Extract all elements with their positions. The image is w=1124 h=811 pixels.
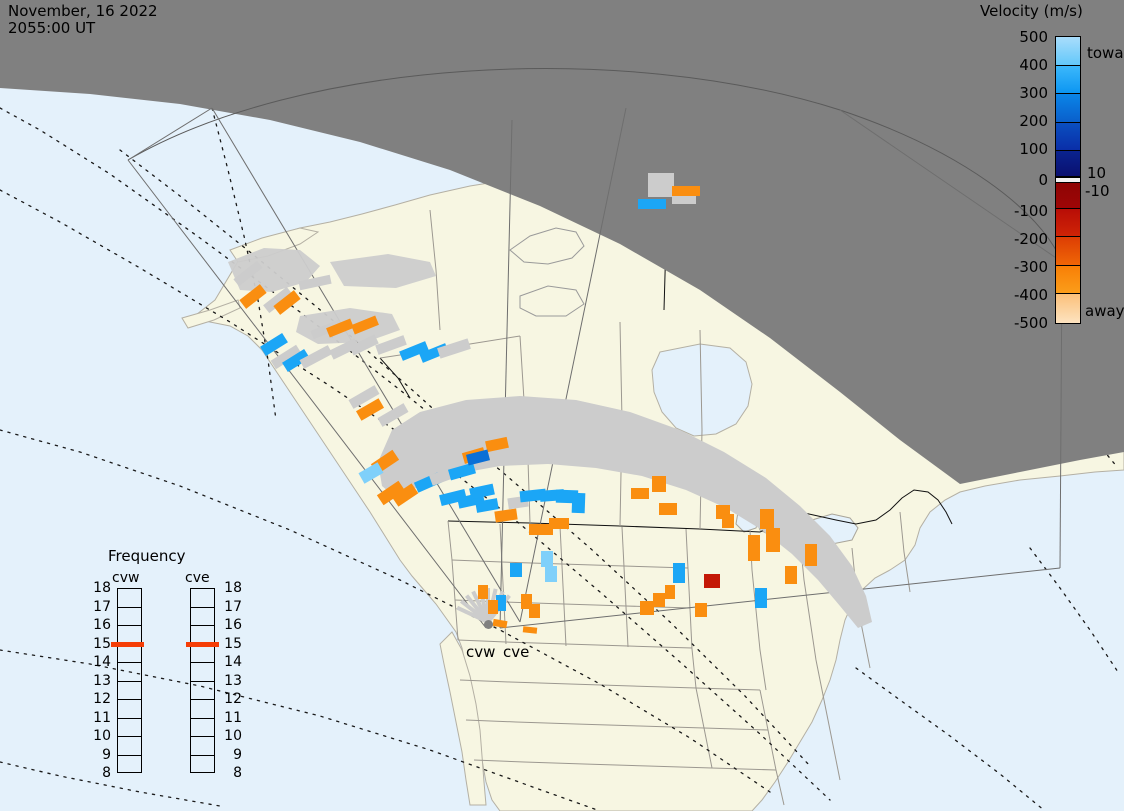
velocity-cell xyxy=(760,509,774,529)
frequency-segment xyxy=(118,589,141,608)
velocity-cell xyxy=(722,514,734,528)
frequency-segment xyxy=(191,663,214,682)
frequency-tick-cve-15: 15 xyxy=(220,636,242,652)
frequency-tick-cve-9: 9 xyxy=(220,747,242,763)
frequency-segment xyxy=(118,719,141,738)
colorbar-band-500-400 xyxy=(1056,37,1080,66)
velocity-cell xyxy=(488,600,498,614)
colorbar-title: Velocity (m/s) xyxy=(980,4,1083,19)
colorbar-band-400-300 xyxy=(1056,66,1080,95)
colorbar-tick-0: 0 xyxy=(988,171,1048,189)
velocity-cell xyxy=(704,574,720,588)
velocity-cell xyxy=(541,551,553,567)
velocity-cell xyxy=(766,528,780,552)
frequency-segment xyxy=(191,682,214,701)
frequency-tick-cvw-18: 18 xyxy=(89,580,111,596)
colorbar-inner-upper-label: 10 xyxy=(1087,164,1106,182)
velocity-cell xyxy=(805,544,817,566)
velocity-cell xyxy=(785,566,797,584)
velocity-cell xyxy=(545,566,557,582)
frequency-segment xyxy=(118,756,141,775)
velocity-cell xyxy=(695,603,707,617)
no-data-swath xyxy=(378,396,872,628)
frequency-tick-cvw-17: 17 xyxy=(89,599,111,615)
velocity-cell xyxy=(437,338,471,358)
frequency-tick-cve-14: 14 xyxy=(220,654,242,670)
frequency-segment xyxy=(191,645,214,664)
colorbar-band--300--400 xyxy=(1056,266,1080,295)
radar-site-label-cvw: cvw xyxy=(466,643,495,661)
frequency-tick-cve-13: 13 xyxy=(220,673,242,689)
velocity-cell xyxy=(652,476,666,492)
frequency-segment xyxy=(191,608,214,627)
velocity-data-cells xyxy=(0,0,1124,811)
frequency-bar-name-cvw: cvw xyxy=(112,570,139,586)
colorbar-toward-label: toward xyxy=(1087,44,1124,62)
colorbar-tick-400: 400 xyxy=(988,56,1048,74)
frequency-highlight-cvw xyxy=(111,642,144,647)
velocity-cell xyxy=(510,563,522,577)
frequency-tick-cvw-10: 10 xyxy=(89,728,111,744)
velocity-cell xyxy=(653,593,665,607)
velocity-cell xyxy=(572,493,586,513)
radar-site-marker xyxy=(484,620,493,629)
velocity-cell xyxy=(673,563,685,583)
frequency-tick-cve-18: 18 xyxy=(220,580,242,596)
colorbar-tick--200: -200 xyxy=(988,230,1048,248)
frequency-segment xyxy=(118,663,141,682)
frequency-segment xyxy=(191,737,214,756)
colorbar-band-300-200 xyxy=(1056,94,1080,123)
colorbar-tick--300: -300 xyxy=(988,258,1048,276)
frequency-bar-cvw xyxy=(117,588,142,773)
frequency-tick-cve-17: 17 xyxy=(220,599,242,615)
colorbar-tick-100: 100 xyxy=(988,140,1048,158)
frequency-tick-cvw-16: 16 xyxy=(89,617,111,633)
frequency-segment xyxy=(118,737,141,756)
observation-time: 2055:00 UT xyxy=(8,21,95,36)
frequency-segment xyxy=(191,719,214,738)
frequency-tick-cvw-14: 14 xyxy=(89,654,111,670)
colorbar-tick-200: 200 xyxy=(988,112,1048,130)
frequency-tick-cve-16: 16 xyxy=(220,617,242,633)
velocity-cell xyxy=(659,503,677,515)
frequency-tick-cve-8: 8 xyxy=(220,765,242,781)
radar-map-figure: cvwcve November, 16 2022 2055:00 UT Velo… xyxy=(0,0,1124,811)
frequency-segment xyxy=(191,700,214,719)
velocity-cell xyxy=(640,601,654,615)
colorbar-band--400--500 xyxy=(1056,294,1080,323)
frequency-tick-cvw-15: 15 xyxy=(89,636,111,652)
velocity-cell xyxy=(631,488,649,499)
colorbar-band--10--100 xyxy=(1056,183,1080,209)
velocity-cell xyxy=(755,588,767,608)
frequency-bar-name-cve: cve xyxy=(185,570,210,586)
colorbar-tick--500: -500 xyxy=(988,314,1048,332)
colorbar-band--200--300 xyxy=(1056,237,1080,266)
velocity-cell xyxy=(638,199,666,209)
colorbar-band-100-10 xyxy=(1056,151,1080,177)
frequency-highlight-cve xyxy=(186,642,219,647)
velocity-colorbar xyxy=(1055,36,1081,324)
colorbar-band--100--200 xyxy=(1056,209,1080,238)
colorbar-tick--400: -400 xyxy=(988,286,1048,304)
frequency-segment xyxy=(118,645,141,664)
colorbar-band-200-100 xyxy=(1056,123,1080,152)
frequency-segment xyxy=(191,756,214,775)
frequency-bar-cve xyxy=(190,588,215,773)
velocity-cell xyxy=(549,518,569,529)
velocity-cell xyxy=(469,484,495,500)
velocity-cell xyxy=(748,535,760,561)
colorbar-tick-300: 300 xyxy=(988,84,1048,102)
velocity-cell xyxy=(529,604,540,618)
velocity-cell xyxy=(478,585,488,599)
frequency-tick-cvw-8: 8 xyxy=(89,765,111,781)
observation-date: November, 16 2022 xyxy=(8,4,158,19)
frequency-segment xyxy=(118,608,141,627)
frequency-segment xyxy=(191,589,214,608)
velocity-cell xyxy=(494,509,517,523)
colorbar-inner-lower-label: -10 xyxy=(1085,182,1110,200)
frequency-tick-cvw-12: 12 xyxy=(89,691,111,707)
velocity-cell xyxy=(492,619,507,628)
colorbar-away-label: away xyxy=(1085,302,1124,320)
colorbar-tick-500: 500 xyxy=(988,28,1048,46)
frequency-tick-cve-11: 11 xyxy=(220,710,242,726)
velocity-cell xyxy=(672,196,696,204)
frequency-tick-cve-10: 10 xyxy=(220,728,242,744)
frequency-legend-title: Frequency xyxy=(108,549,186,564)
frequency-tick-cvw-11: 11 xyxy=(89,710,111,726)
radar-site-label-cve: cve xyxy=(503,643,529,661)
velocity-cell xyxy=(648,173,674,197)
colorbar-tick--100: -100 xyxy=(988,202,1048,220)
frequency-tick-cvw-9: 9 xyxy=(89,747,111,763)
frequency-segment xyxy=(118,682,141,701)
frequency-tick-cvw-13: 13 xyxy=(89,673,111,689)
velocity-cell xyxy=(523,626,538,633)
velocity-cell xyxy=(665,585,675,599)
frequency-tick-cve-12: 12 xyxy=(220,691,242,707)
frequency-segment xyxy=(118,700,141,719)
velocity-cell xyxy=(672,186,700,196)
